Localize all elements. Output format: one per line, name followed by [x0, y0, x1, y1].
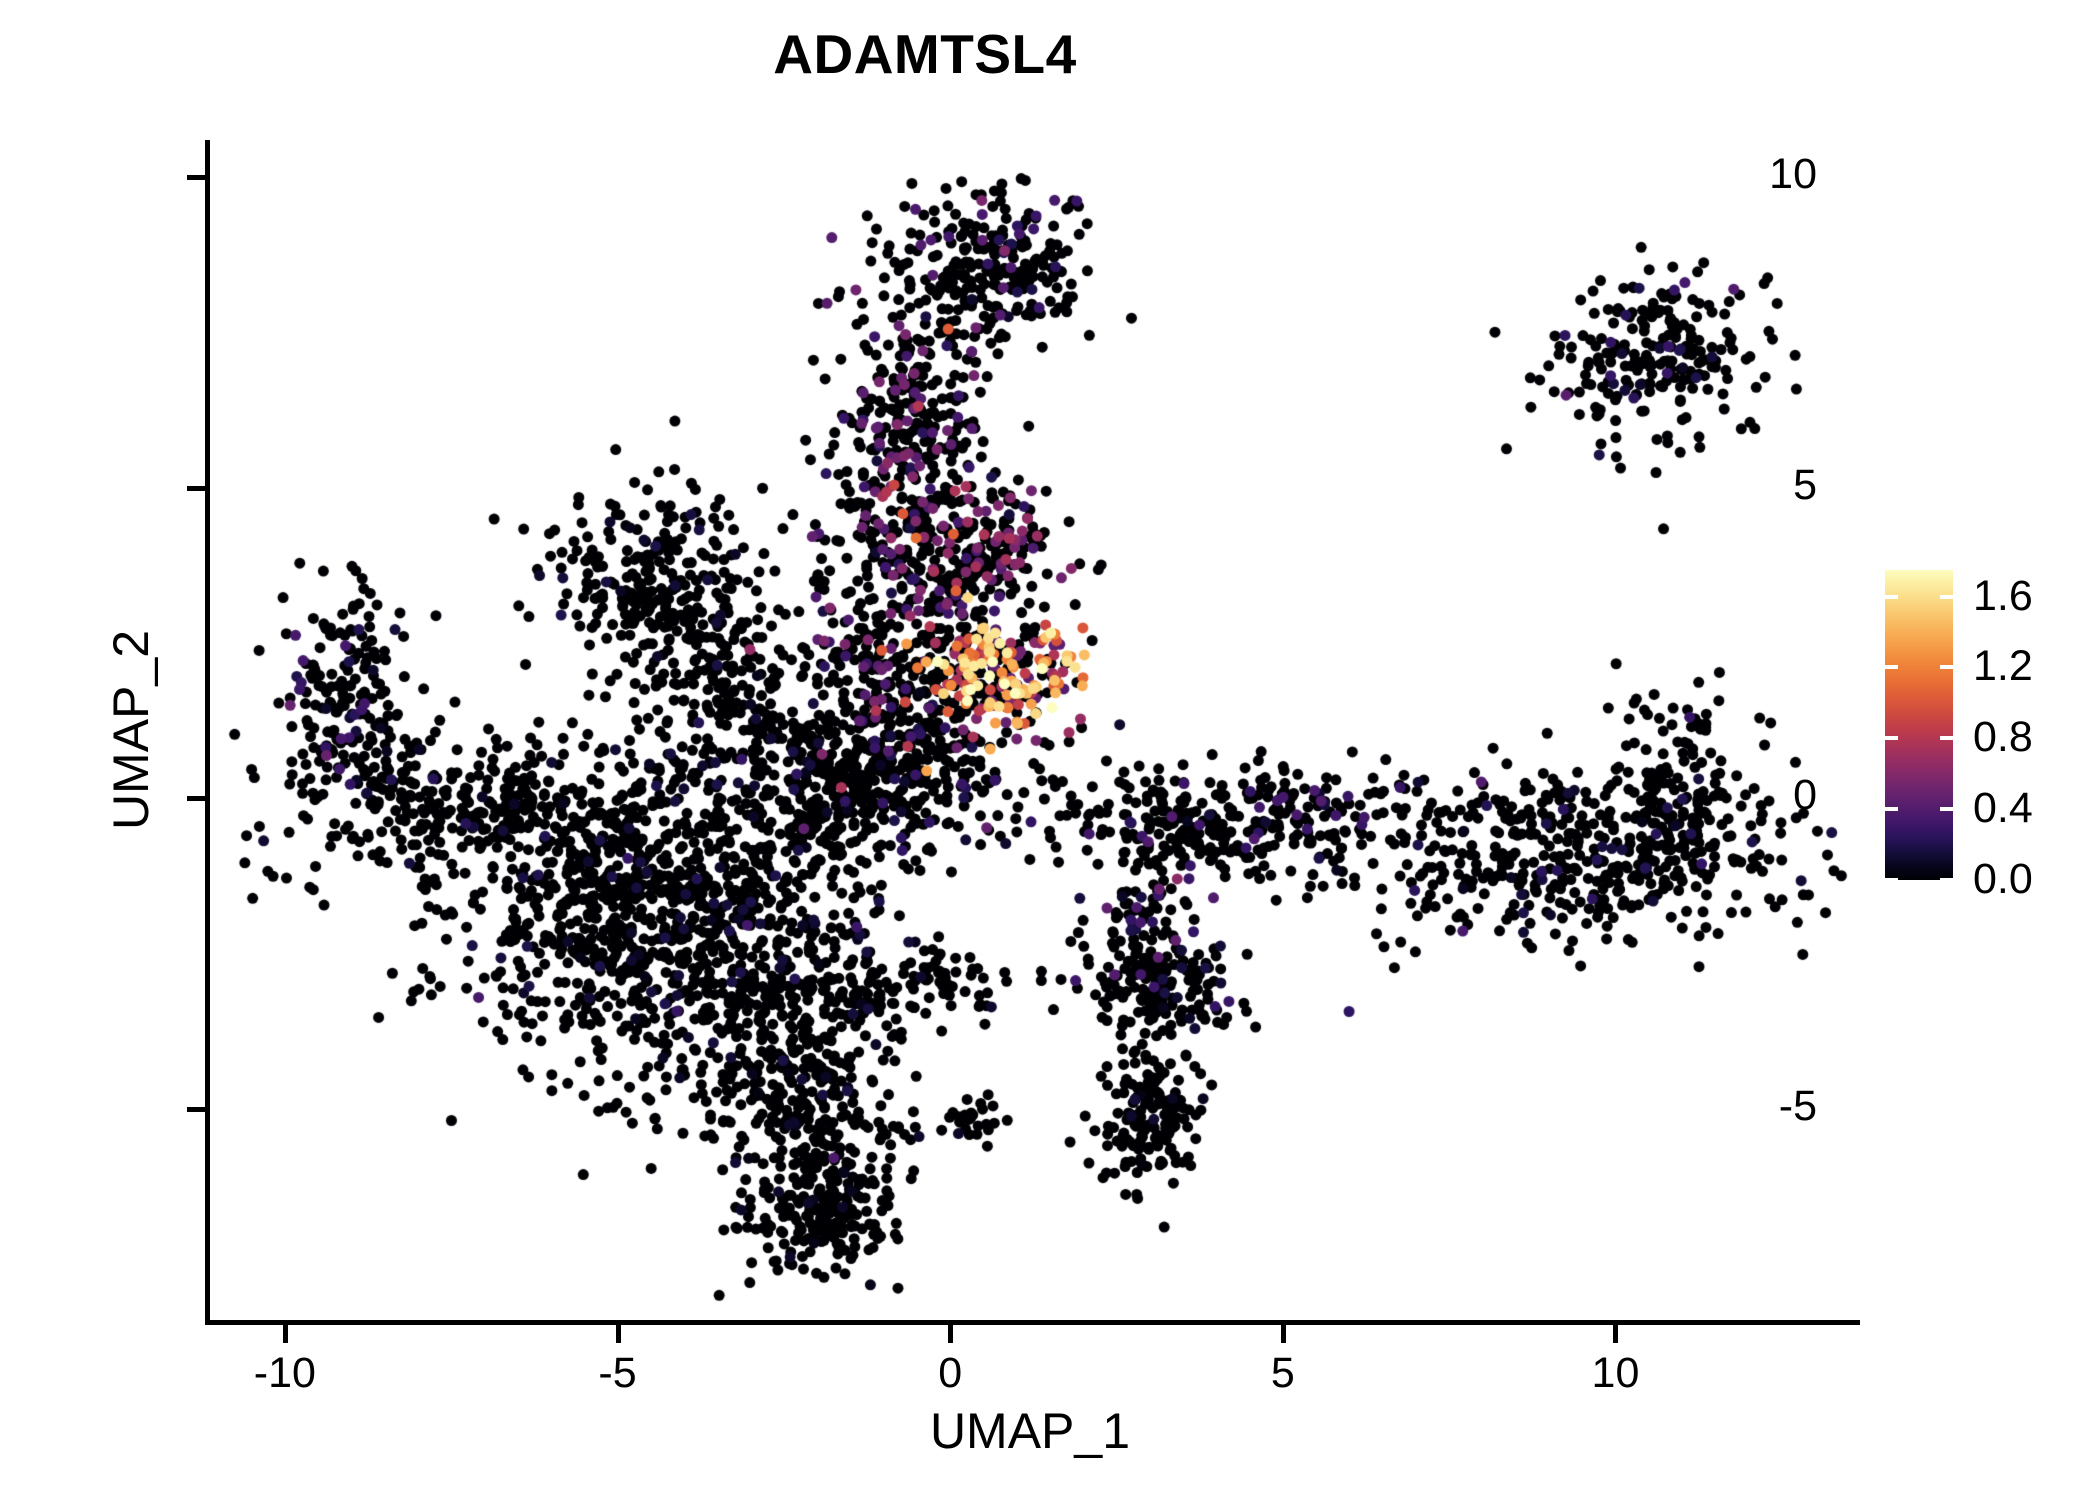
colorbar-tickmark-0.4 — [1885, 807, 1898, 811]
colorbar-tickmark-0.8 — [1885, 736, 1898, 740]
y-tick-0 — [187, 796, 205, 801]
colorbar-tickmark-1.6 — [1885, 595, 1898, 599]
x-tick--10 — [283, 1325, 288, 1343]
umap-feature-plot-figure: ADAMTSL4 1050-5 -10-50510 UMAP_2 UMAP_1 … — [0, 0, 2100, 1500]
y-axis-title: UMAP_2 — [105, 140, 165, 1320]
expression-colorbar-legend: 1.61.20.80.40.0 — [1885, 570, 2085, 880]
y-tick-label-10: 10 — [1697, 153, 1817, 196]
colorbar-tickmark-0.0 — [1885, 878, 1898, 882]
y-tick-label-5: 5 — [1697, 464, 1817, 507]
x-tick--5 — [616, 1325, 621, 1343]
x-axis-line — [205, 1320, 1860, 1325]
y-axis-line — [205, 140, 210, 1325]
umap-scatter-canvas — [205, 140, 1855, 1320]
x-tick-label-5: 5 — [1203, 1352, 1363, 1395]
colorbar-label-1.6: 1.6 — [1973, 575, 2100, 618]
x-tick-5 — [1281, 1325, 1286, 1343]
colorbar-tickmark-0.8 — [1940, 736, 1953, 740]
colorbar-tickmark-1.2 — [1885, 665, 1898, 669]
colorbar-label-0.8: 0.8 — [1973, 716, 2100, 759]
x-tick-label-0: 0 — [870, 1352, 1030, 1395]
y-tick--5 — [187, 1107, 205, 1112]
x-tick-label--5: -5 — [538, 1352, 698, 1395]
colorbar-tickmark-1.2 — [1940, 665, 1953, 669]
y-tick-10 — [187, 175, 205, 180]
colorbar — [1885, 570, 1953, 880]
page-title: ADAMTSL4 — [0, 24, 1850, 85]
x-tick-10 — [1613, 1325, 1618, 1343]
colorbar-gradient — [1885, 570, 1953, 880]
y-tick-label--5: -5 — [1697, 1085, 1817, 1128]
colorbar-tickmark-0.4 — [1940, 807, 1953, 811]
colorbar-tickmark-0.0 — [1940, 878, 1953, 882]
x-tick-label-10: 10 — [1535, 1352, 1695, 1395]
y-tick-label-0: 0 — [1697, 774, 1817, 817]
colorbar-tickmark-1.6 — [1940, 595, 1953, 599]
scatter-plot-area[interactable] — [205, 140, 1855, 1320]
y-tick-5 — [187, 486, 205, 491]
plot-panel: 1050-5 -10-50510 UMAP_2 UMAP_1 — [205, 140, 1855, 1320]
colorbar-label-0.4: 0.4 — [1973, 787, 2100, 830]
colorbar-label-1.2: 1.2 — [1973, 645, 2100, 688]
colorbar-label-0.0: 0.0 — [1973, 858, 2100, 901]
x-tick-0 — [948, 1325, 953, 1343]
x-axis-title: UMAP_1 — [205, 1405, 1855, 1458]
x-tick-label--10: -10 — [205, 1352, 365, 1395]
